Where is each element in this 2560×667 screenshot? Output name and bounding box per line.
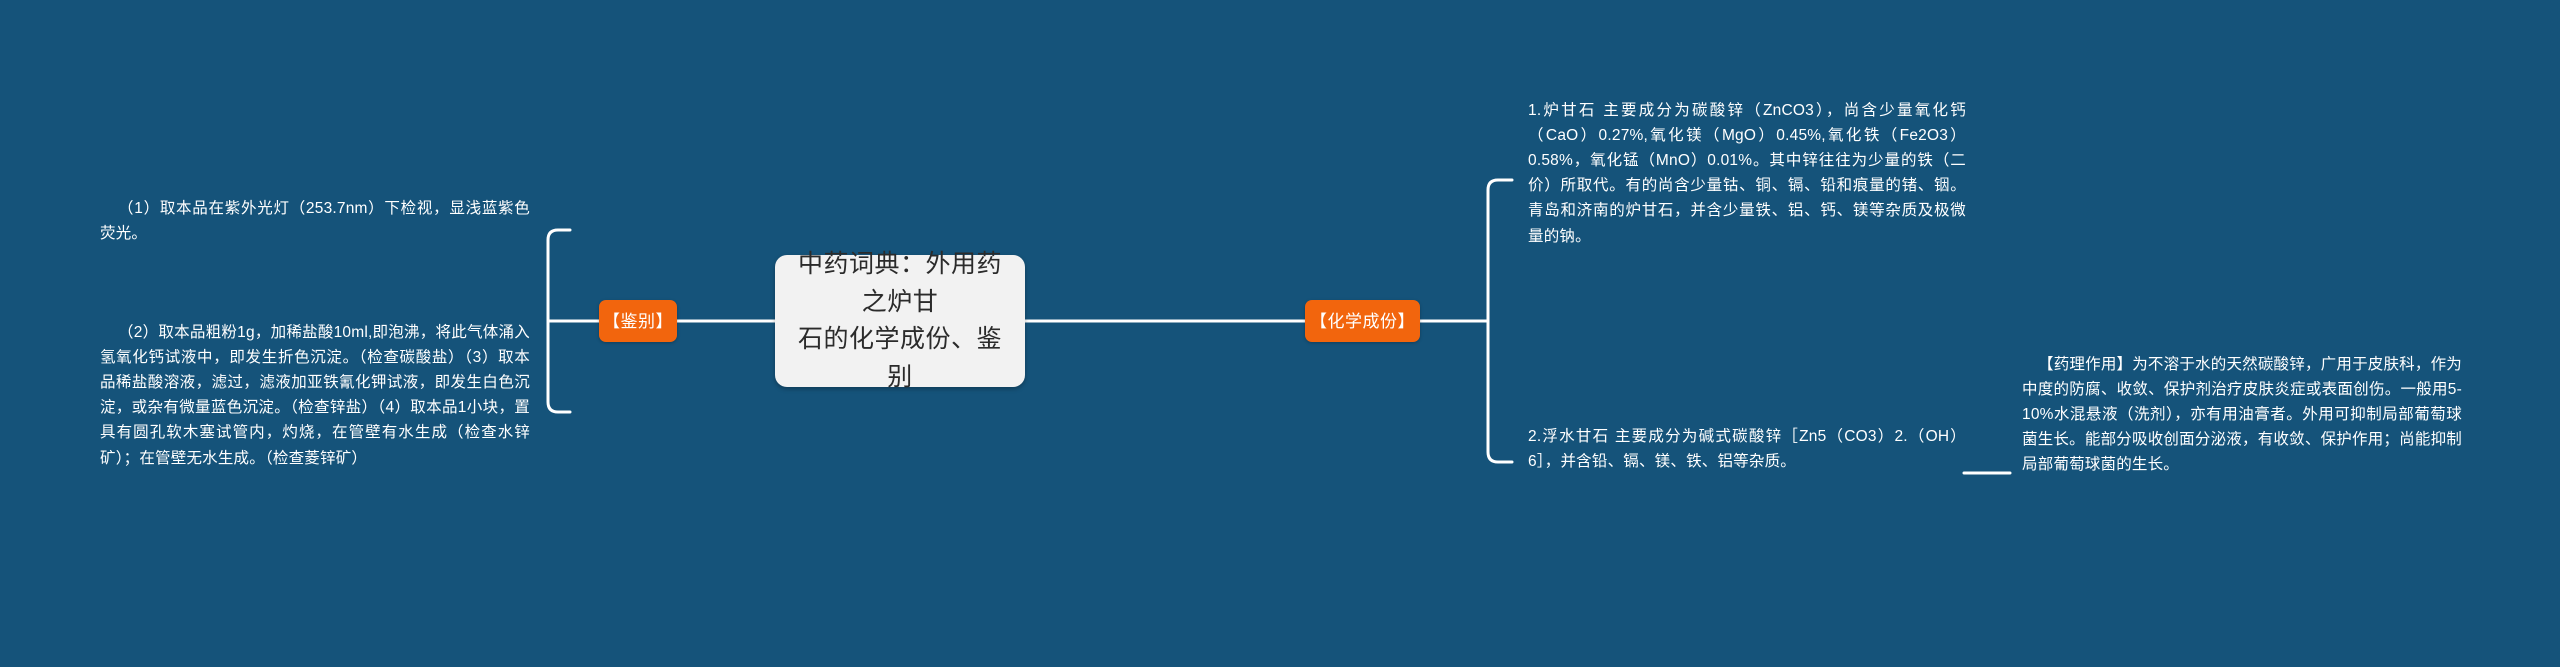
leaf-text-identification-2: （2）取本品粗粉1g，加稀盐酸10ml,即泡沸，将此气体涌入氢氧化钙试液中，即发…	[100, 320, 530, 471]
branch-label-identification: 【鉴别】	[603, 313, 673, 330]
branch-label-composition: 【化学成份】	[1310, 313, 1415, 330]
leaf-text-identification-1: （1）取本品在紫外光灯（253.7nm）下检视，显浅蓝紫色荧光。	[100, 196, 530, 246]
leaf-text-composition-1: 1.炉甘石 主要成分为碳酸锌（ZnCO3），尚含少量氧化钙（CaO）0.27%,…	[1528, 98, 1966, 249]
leaf-text-composition-2: 2.浮水甘石 主要成分为碱式碳酸锌［Zn5（CO3）2.（OH）6］，并含铅、镉…	[1528, 424, 1966, 474]
connector-composition-bracket	[1488, 180, 1512, 462]
connector-identification-bracket	[548, 230, 570, 412]
branch-button-identification[interactable]: 【鉴别】	[599, 300, 677, 342]
central-topic-node[interactable]: 中药词典：外用药之炉甘 石的化学成份、鉴别	[775, 255, 1025, 387]
branch-button-composition[interactable]: 【化学成份】	[1305, 300, 1420, 342]
central-topic-label: 中药词典：外用药之炉甘 石的化学成份、鉴别	[789, 246, 1011, 396]
mindmap-canvas: 中药词典：外用药之炉甘 石的化学成份、鉴别 【鉴别】 【化学成份】 （1）取本品…	[0, 0, 2560, 667]
leaf-text-pharmacology: 【药理作用】为不溶于水的天然碳酸锌，广用于皮肤科，作为中度的防腐、收敛、保护剂治…	[2022, 352, 2462, 478]
